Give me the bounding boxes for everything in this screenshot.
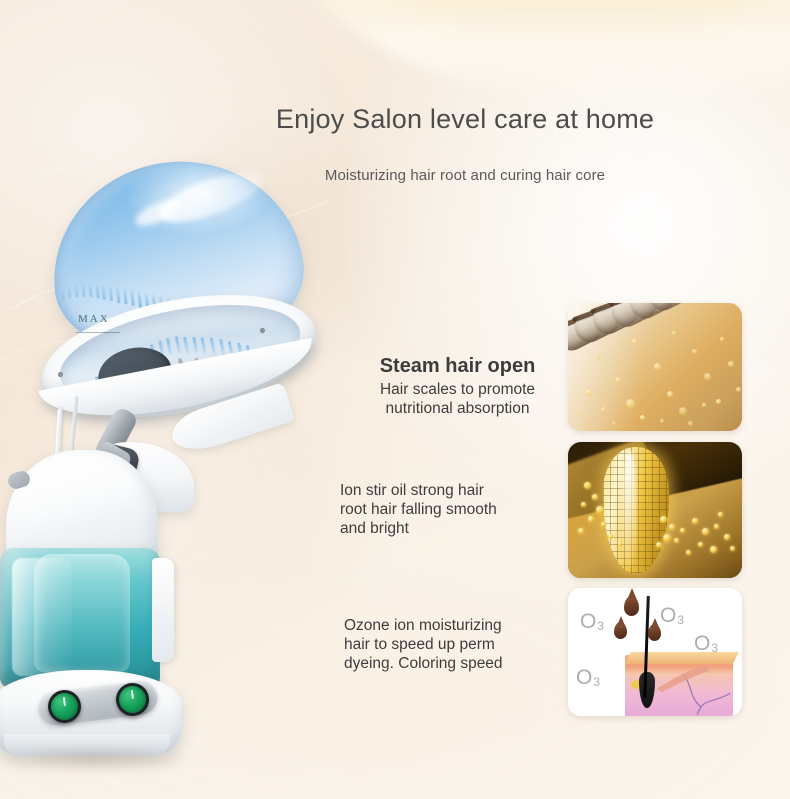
follicle-mesh-grid bbox=[603, 447, 669, 572]
ozone-label: O3 bbox=[576, 666, 600, 690]
feature-line: Hair scales to promote bbox=[350, 381, 565, 400]
thumbnail-hair-cuticle-photo bbox=[568, 303, 742, 431]
ozone-droplet bbox=[614, 622, 627, 639]
feature-body: Hair scales to promote nutritional absor… bbox=[350, 381, 565, 419]
ozone-label: O3 bbox=[660, 604, 684, 628]
follicle-highlight bbox=[623, 452, 636, 567]
page-title: Enjoy Salon level care at home bbox=[0, 104, 790, 135]
feature-line: root hair falling smooth bbox=[340, 501, 565, 520]
feature-body: Ozone ion moisturizing hair to speed up … bbox=[344, 617, 569, 674]
feature-line: nutritional absorption bbox=[350, 400, 565, 419]
feature-line: dyeing. Coloring speed bbox=[344, 655, 569, 674]
water-tank-max-label: MAX bbox=[78, 313, 110, 325]
ozone-label: O3 bbox=[694, 632, 718, 656]
thumbnail-hair-follicle-photo bbox=[568, 442, 742, 578]
feature-line: hair to speed up perm bbox=[344, 636, 569, 655]
thumbnail-ozone-diagram: O3O3O3O3 bbox=[568, 588, 742, 716]
muscle-fiber bbox=[655, 660, 711, 693]
water-tank-glass-highlight bbox=[12, 558, 72, 676]
device-ground-shadow bbox=[0, 746, 188, 772]
follicle-bulb-graphic bbox=[603, 447, 669, 572]
feature-title: Steam hair open bbox=[350, 355, 565, 378]
water-tank bbox=[0, 548, 160, 688]
feature-line: Ion stir oil strong hair bbox=[340, 482, 565, 501]
hair-steamer-device: MAX bbox=[0, 150, 322, 750]
feature-block-ion-stir-oil: Ion stir oil strong hair root hair falli… bbox=[340, 482, 565, 539]
water-tank-side-fin bbox=[152, 558, 174, 662]
ozone-droplet bbox=[648, 624, 661, 641]
ozone-label: O3 bbox=[580, 610, 604, 634]
feature-block-steam-hair-open: Steam hair open Hair scales to promote n… bbox=[350, 355, 565, 419]
feature-line: and bright bbox=[340, 520, 565, 539]
feature-block-ozone-ion: Ozone ion moisturizing hair to speed up … bbox=[344, 617, 569, 674]
water-tank-max-line bbox=[76, 332, 120, 333]
ozone-droplet bbox=[624, 596, 639, 616]
feature-line: Ozone ion moisturizing bbox=[344, 617, 569, 636]
product-banner: Enjoy Salon level care at home Moisturiz… bbox=[0, 0, 790, 799]
feature-body: Ion stir oil strong hair root hair falli… bbox=[340, 482, 565, 539]
